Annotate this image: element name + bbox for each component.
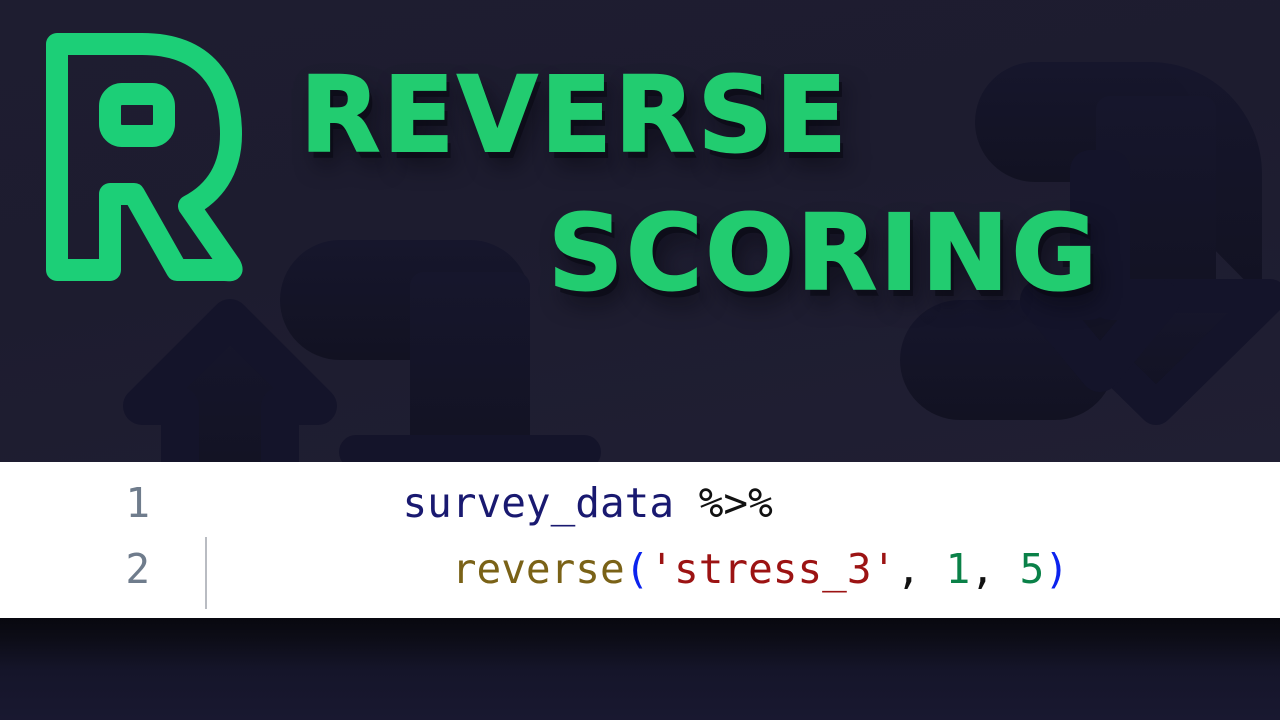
token-comma: , xyxy=(896,545,921,593)
r-logo-icon xyxy=(34,22,254,282)
arrow-up-icon xyxy=(142,318,318,462)
footer-bar xyxy=(0,618,1280,720)
token-space xyxy=(921,545,946,593)
line-number: 1 xyxy=(0,479,150,527)
token-number-max: 5 xyxy=(1020,545,1045,593)
code-line-content[interactable]: reverse('stress_3', 1, 5) xyxy=(150,497,1069,618)
code-block[interactable]: 1 survey_data %>% 2 reverse('stress_3', … xyxy=(0,462,1280,618)
token-number-min: 1 xyxy=(946,545,971,593)
code-line[interactable]: 2 reverse('stress_3', 1, 5) xyxy=(0,536,1280,602)
slide-canvas: REVERSE SCORING 1 survey_data %>% 2 reve… xyxy=(0,0,1280,720)
token-open-paren: ( xyxy=(625,545,650,593)
title-line-scoring: SCORING xyxy=(300,204,1100,304)
token-indent xyxy=(402,545,451,593)
hero-banner: REVERSE SCORING xyxy=(0,0,1280,462)
token-string: 'stress_3' xyxy=(649,545,896,593)
token-function: reverse xyxy=(452,545,625,593)
token-space xyxy=(995,545,1020,593)
hero-title: REVERSE SCORING xyxy=(300,66,1100,304)
token-comma: , xyxy=(970,545,995,593)
line-number: 2 xyxy=(0,545,150,593)
title-line-reverse: REVERSE xyxy=(300,66,1100,166)
token-close-paren: ) xyxy=(1044,545,1069,593)
hook-arrow-curve-icon xyxy=(900,300,1115,420)
